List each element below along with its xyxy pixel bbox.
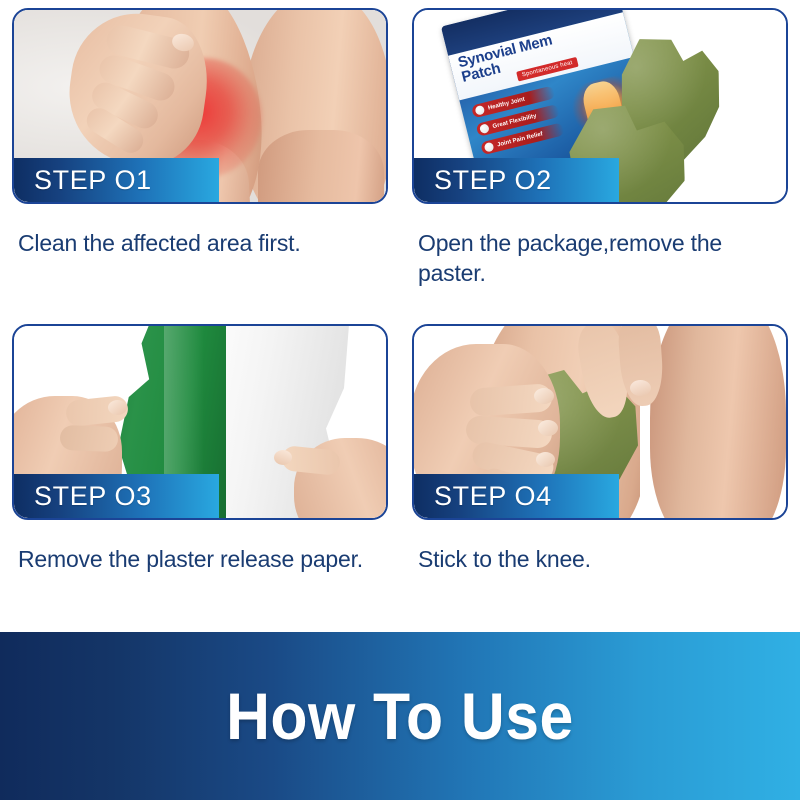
- steps-grid: STEP O1 Clean the affected area first.: [0, 0, 800, 632]
- bullet-dot-icon: [479, 123, 490, 134]
- fingernail-shape: [592, 388, 614, 405]
- step-caption-2: Open the package,remove the paster.: [418, 228, 786, 289]
- bullet-dot-icon: [474, 105, 485, 116]
- step-block-4: STEP O4 Stick to the knee.: [400, 316, 790, 632]
- second-leg-shape: [650, 326, 786, 518]
- fingernail-shape: [536, 452, 555, 467]
- step-card-3: STEP O3: [12, 324, 388, 520]
- step-caption-1: Clean the affected area first.: [18, 228, 386, 258]
- step-block-1: STEP O1 Clean the affected area first.: [0, 0, 390, 316]
- bullet-dot-icon: [484, 142, 495, 153]
- step-label-4: STEP O4: [414, 481, 552, 512]
- step-label-3: STEP O3: [14, 481, 152, 512]
- fingernail-shape: [538, 420, 558, 436]
- bottom-title-banner: How To Use: [0, 632, 800, 800]
- step-block-2: Sumifun Synovial Mem Patch Spontaneous h…: [400, 0, 790, 316]
- step-card-4: STEP O4: [412, 324, 788, 520]
- step-caption-4: Stick to the knee.: [418, 544, 786, 574]
- step-block-3: STEP O3 Remove the plaster release paper…: [0, 316, 390, 632]
- fingernail-shape: [534, 388, 554, 404]
- step-label-1: STEP O1: [14, 165, 152, 196]
- second-leg-lower-shape: [258, 130, 384, 202]
- finger-shape: [60, 425, 119, 452]
- page-title: How To Use: [226, 678, 574, 754]
- fingernail-shape: [108, 400, 127, 415]
- fingernail-shape: [274, 450, 292, 465]
- step-card-1: STEP O1: [12, 8, 388, 204]
- step-label-2: STEP O2: [414, 165, 552, 196]
- step-banner-2: STEP O2: [414, 158, 619, 202]
- fingernail-shape: [630, 380, 651, 396]
- step-banner-4: STEP O4: [414, 474, 619, 518]
- step-banner-3: STEP O3: [14, 474, 219, 518]
- step-card-2: Sumifun Synovial Mem Patch Spontaneous h…: [412, 8, 788, 204]
- step-banner-1: STEP O1: [14, 158, 219, 202]
- package-bullet-label: Great Flexibility: [492, 113, 537, 130]
- package-bullet-label: Joint Pain Relief: [497, 131, 544, 148]
- step-caption-3: Remove the plaster release paper.: [18, 544, 386, 574]
